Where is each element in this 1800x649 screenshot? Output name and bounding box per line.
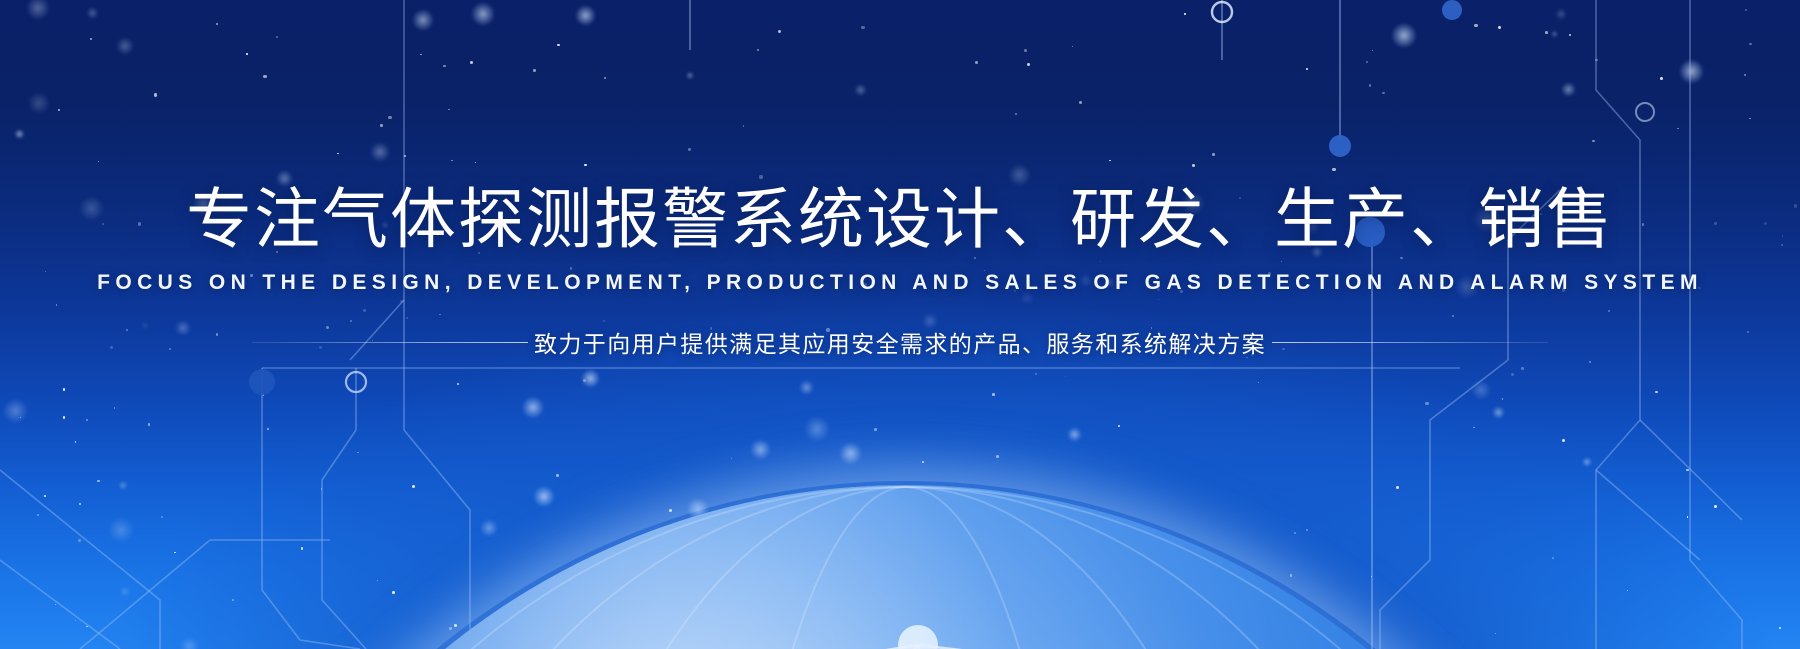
hero-banner: 专注气体探测报警系统设计、研发、生产、销售 FOCUS ON THE DESIG…	[0, 0, 1800, 649]
tagline-text: 致力于向用户提供满足其应用安全需求的产品、服务和系统解决方案	[528, 325, 1272, 359]
tagline-row: 致力于向用户提供满足其应用安全需求的产品、服务和系统解决方案	[0, 325, 1800, 359]
divider-line-left	[252, 342, 528, 343]
page-title: 专注气体探测报警系统设计、研发、生产、销售	[0, 186, 1800, 253]
banner-text-block: 专注气体探测报警系统设计、研发、生产、销售 FOCUS ON THE DESIG…	[0, 0, 1800, 359]
network-node-dots	[330, 625, 1549, 649]
globe-sphere	[176, 485, 1636, 649]
network-mesh-lines	[346, 645, 1596, 649]
divider-line-right	[1272, 342, 1548, 343]
page-subtitle-english: FOCUS ON THE DESIGN, DEVELOPMENT, PRODUC…	[0, 271, 1800, 295]
